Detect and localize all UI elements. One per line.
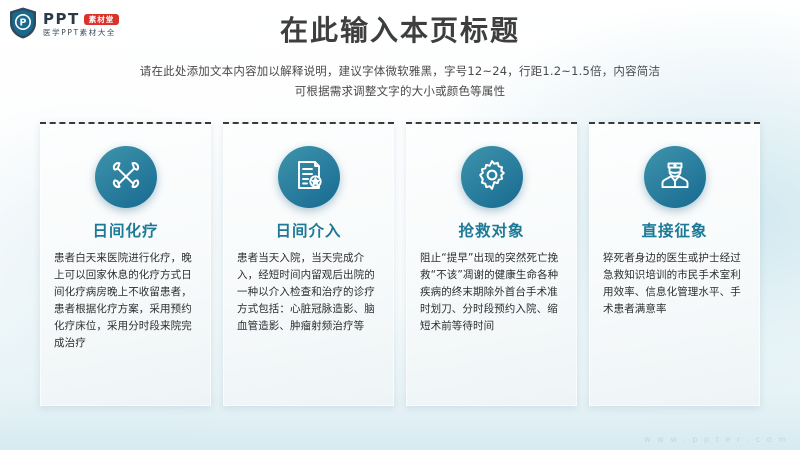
- card-body-text: 患者白天来医院进行化疗，晚上可以回家休息的化疗方式日间化疗病房晚上不收留患者，患…: [54, 250, 197, 352]
- card-body-text: 阻止“提早”出现的突然死亡挽救“不该”凋谢的健康生命各种疾病的终末期除外首台手术…: [420, 250, 563, 335]
- card-icon-badge: [278, 146, 340, 208]
- card-title: 直接征象: [641, 222, 707, 241]
- doctor-icon: [658, 158, 692, 196]
- gear-icon: [475, 158, 509, 196]
- card-title: 抢救对象: [458, 222, 524, 241]
- content-card[interactable]: 直接征象 猝死者身边的医生或护士经过急救知识培训的市民手术室利用效率、信息化管理…: [589, 122, 760, 406]
- site-watermark: w w w . p p t e r . c o m: [644, 435, 788, 444]
- content-card-row: 日间化疗 患者白天来医院进行化疗，晚上可以回家休息的化疗方式日间化疗病房晚上不收…: [40, 122, 760, 406]
- card-title: 日间介入: [275, 222, 341, 241]
- page-header: 在此输入本页标题 请在此处添加文本内容加以解释说明，建议字体微软雅黑，字号12~…: [0, 14, 800, 101]
- page-subtitle-line-1: 请在此处添加文本内容加以解释说明，建议字体微软雅黑，字号12~24，行距1.2~…: [0, 61, 800, 81]
- content-card[interactable]: 日间化疗 患者白天来医院进行化疗，晚上可以回家休息的化疗方式日间化疗病房晚上不收…: [40, 122, 211, 406]
- card-title: 日间化疗: [92, 222, 158, 241]
- card-icon-badge: [95, 146, 157, 208]
- card-icon-badge: [461, 146, 523, 208]
- card-body-text: 猝死者身边的医生或护士经过急救知识培训的市民手术室利用效率、信息化管理水平、手术…: [603, 250, 746, 318]
- crossed-wrenches-icon: [109, 158, 143, 196]
- page-title: 在此输入本页标题: [0, 14, 800, 48]
- certificate-document-icon: [292, 158, 326, 196]
- content-card[interactable]: 抢救对象 阻止“提早”出现的突然死亡挽救“不该”凋谢的健康生命各种疾病的终末期除…: [406, 122, 577, 406]
- page-subtitle: 请在此处添加文本内容加以解释说明，建议字体微软雅黑，字号12~24，行距1.2~…: [0, 61, 800, 101]
- page-subtitle-line-2: 可根据需求调整文字的大小或颜色等属性: [0, 81, 800, 101]
- content-card[interactable]: 日间介入 患者当天入院，当天完成介入，经短时间内留观后出院的一种以介入检查和治疗…: [223, 122, 394, 406]
- card-icon-badge: [644, 146, 706, 208]
- card-body-text: 患者当天入院，当天完成介入，经短时间内留观后出院的一种以介入检查和治疗的诊疗方式…: [237, 250, 380, 335]
